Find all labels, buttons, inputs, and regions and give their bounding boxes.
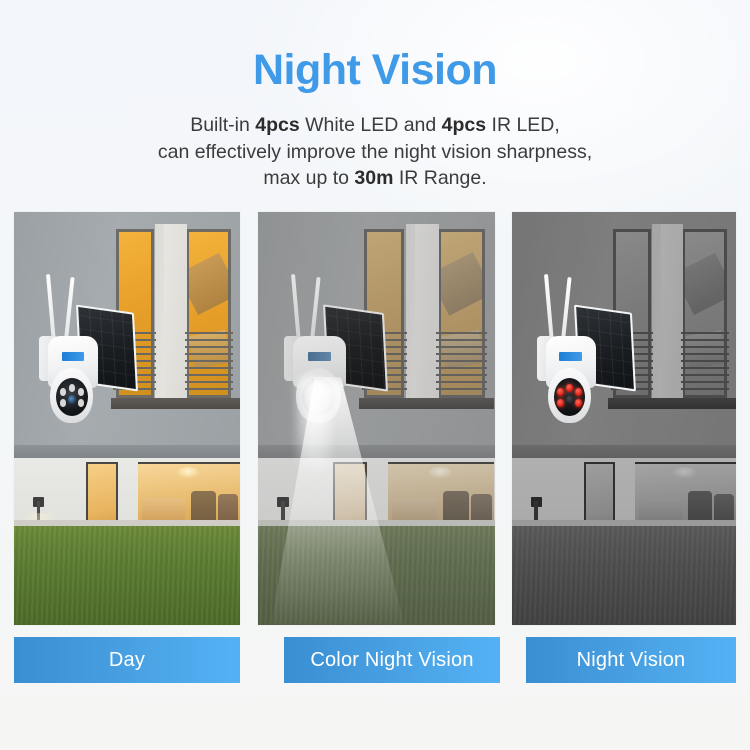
page-title: Night Vision [0, 46, 750, 95]
brand-logo [559, 352, 582, 361]
camera-lens-face [56, 378, 88, 416]
subtitle-l1-pre: Built-in [190, 114, 255, 136]
label-bar-day[interactable]: Day [14, 637, 240, 683]
photo-day [14, 212, 240, 625]
ir-led-5 [575, 399, 582, 407]
led-3 [78, 388, 85, 396]
led-1 [60, 388, 67, 396]
lens-eye [68, 395, 76, 405]
security-camera [28, 274, 155, 447]
ir-led-1 [557, 388, 564, 396]
camera-lens-face [554, 378, 585, 416]
ir-led-4 [557, 399, 564, 407]
panel-labels: Day Color Night Vision Night Vision [14, 637, 736, 683]
subtitle-l1-bold-1: 4pcs [255, 114, 299, 136]
led-4 [60, 399, 67, 407]
label-bar-color-night-vision[interactable]: Color Night Vision [284, 637, 500, 683]
security-camera [525, 274, 650, 447]
panel-night-vision[interactable] [512, 212, 736, 625]
lawn [512, 526, 736, 625]
subtitle-l3-pre: max up to [263, 167, 354, 189]
wall-shutter-panel-2 [415, 224, 439, 406]
panel-color-night-vision[interactable] [258, 212, 495, 625]
antenna-left [291, 274, 301, 343]
subtitle-l3-bold-1: 30m [354, 167, 393, 189]
antenna-left [46, 274, 56, 343]
panel-day[interactable] [14, 212, 240, 625]
brand-logo [308, 352, 332, 361]
subtitle-l1-bold-2: 4pcs [442, 114, 486, 136]
label-bar-night-vision[interactable]: Night Vision [526, 637, 736, 683]
lawn [258, 526, 495, 625]
wall-shutter-panel-2 [164, 224, 187, 406]
brand-logo [62, 352, 85, 361]
lawn [14, 526, 240, 625]
ceiling-lamp-glow [177, 467, 199, 477]
subtitle-l1-post: IR LED, [486, 114, 560, 136]
subtitle-line-1: Built-in 4pcs White LED and 4pcs IR LED, [0, 112, 750, 139]
antenna-left [544, 274, 554, 343]
subtitle-l3-post: IR Range. [393, 167, 486, 189]
lens-eye [566, 395, 574, 405]
scene-day [14, 212, 240, 625]
led-2 [69, 384, 76, 392]
ir-led-3 [575, 388, 582, 396]
led-5 [78, 399, 85, 407]
photo-color-night-vision [258, 212, 495, 625]
ceiling-lamp-glow [673, 467, 695, 477]
photo-night-vision [512, 212, 736, 625]
scene-color-night-vision [258, 212, 495, 625]
security-camera [272, 274, 405, 447]
staircase-shape [186, 253, 231, 315]
balcony-railing-right [436, 332, 487, 394]
balcony-railing-right [681, 332, 729, 394]
ir-led-2 [566, 384, 573, 392]
wall-shutter-panel-2 [661, 224, 683, 406]
comparison-panels [14, 212, 736, 625]
page-subtitle: Built-in 4pcs White LED and 4pcs IR LED,… [0, 112, 750, 192]
subtitle-line-3: max up to 30m IR Range. [0, 165, 750, 192]
staircase-shape [438, 252, 485, 315]
night-vision-product-page: Night Vision Built-in 4pcs White LED and… [0, 0, 750, 750]
camera-lens-face [302, 378, 335, 416]
ceiling-lamp-glow [428, 467, 451, 477]
subtitle-l1-mid: White LED and [300, 114, 442, 136]
balcony-railing-right [185, 332, 234, 394]
staircase-shape [682, 253, 727, 315]
subtitle-line-2: can effectively improve the night vision… [0, 139, 750, 166]
lens-eye [314, 395, 323, 405]
